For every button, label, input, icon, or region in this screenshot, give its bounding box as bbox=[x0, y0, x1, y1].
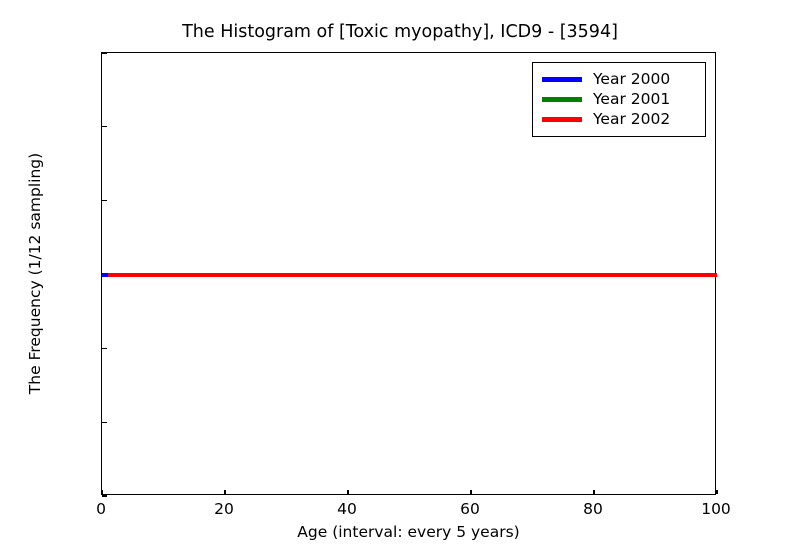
x-tick-mark bbox=[101, 490, 102, 495]
x-tick-mark bbox=[470, 490, 471, 495]
data-line-year-2002 bbox=[686, 273, 717, 277]
x-tick-mark bbox=[593, 490, 594, 495]
figure-canvas: The Histogram of [Toxic myopathy], ICD9 … bbox=[0, 0, 800, 550]
data-line-year-2002 bbox=[133, 273, 164, 277]
legend-color-swatch bbox=[542, 97, 582, 102]
data-line-year-2002 bbox=[194, 273, 225, 277]
x-tick-mark bbox=[224, 490, 225, 495]
x-tick-label: 20 bbox=[214, 500, 234, 518]
y-tick-mark bbox=[102, 348, 107, 349]
data-line-year-2002 bbox=[317, 273, 348, 277]
x-tick-label: 40 bbox=[337, 500, 357, 518]
y-tick-mark bbox=[102, 126, 107, 127]
legend-item: Year 2002 bbox=[542, 109, 696, 129]
data-line-year-2002 bbox=[348, 273, 379, 277]
data-line-year-2002 bbox=[625, 273, 656, 277]
data-line-year-2002 bbox=[256, 273, 287, 277]
data-line-year-2002 bbox=[379, 273, 410, 277]
y-tick-mark bbox=[102, 52, 107, 53]
x-tick-label: 60 bbox=[460, 500, 480, 518]
legend: Year 2000Year 2001Year 2002 bbox=[532, 62, 706, 137]
legend-item: Year 2000 bbox=[542, 69, 696, 89]
data-line-year-2002 bbox=[440, 273, 471, 277]
legend-color-swatch bbox=[542, 117, 582, 122]
data-line-year-2002 bbox=[225, 273, 256, 277]
chart-title: The Histogram of [Toxic myopathy], ICD9 … bbox=[0, 22, 800, 42]
y-axis-label: The Frequency (1/12 sampling) bbox=[26, 52, 44, 495]
y-tick-mark bbox=[102, 495, 107, 496]
legend-label: Year 2001 bbox=[593, 90, 670, 108]
data-line-year-2002 bbox=[287, 273, 318, 277]
data-line-year-2002 bbox=[410, 273, 441, 277]
data-line-year-2002 bbox=[502, 273, 533, 277]
x-axis-label: Age (interval: every 5 years) bbox=[101, 523, 716, 541]
data-line-year-2002 bbox=[656, 273, 687, 277]
y-tick-mark bbox=[102, 422, 107, 423]
x-tick-label: 0 bbox=[96, 500, 106, 518]
data-line-year-2002 bbox=[594, 273, 625, 277]
x-tick-label: 100 bbox=[701, 500, 731, 518]
data-line-start-year-2000 bbox=[102, 273, 108, 277]
legend-label: Year 2002 bbox=[593, 110, 670, 128]
x-tick-mark bbox=[716, 490, 717, 495]
data-line-year-2002 bbox=[471, 273, 502, 277]
x-tick-label: 80 bbox=[583, 500, 603, 518]
data-line-year-2002 bbox=[164, 273, 195, 277]
data-line-year-2002 bbox=[533, 273, 564, 277]
legend-label: Year 2000 bbox=[593, 70, 670, 88]
x-tick-mark bbox=[347, 490, 348, 495]
legend-color-swatch bbox=[542, 77, 582, 82]
legend-item: Year 2001 bbox=[542, 89, 696, 109]
data-line-year-2002 bbox=[563, 273, 594, 277]
y-tick-mark bbox=[102, 200, 107, 201]
